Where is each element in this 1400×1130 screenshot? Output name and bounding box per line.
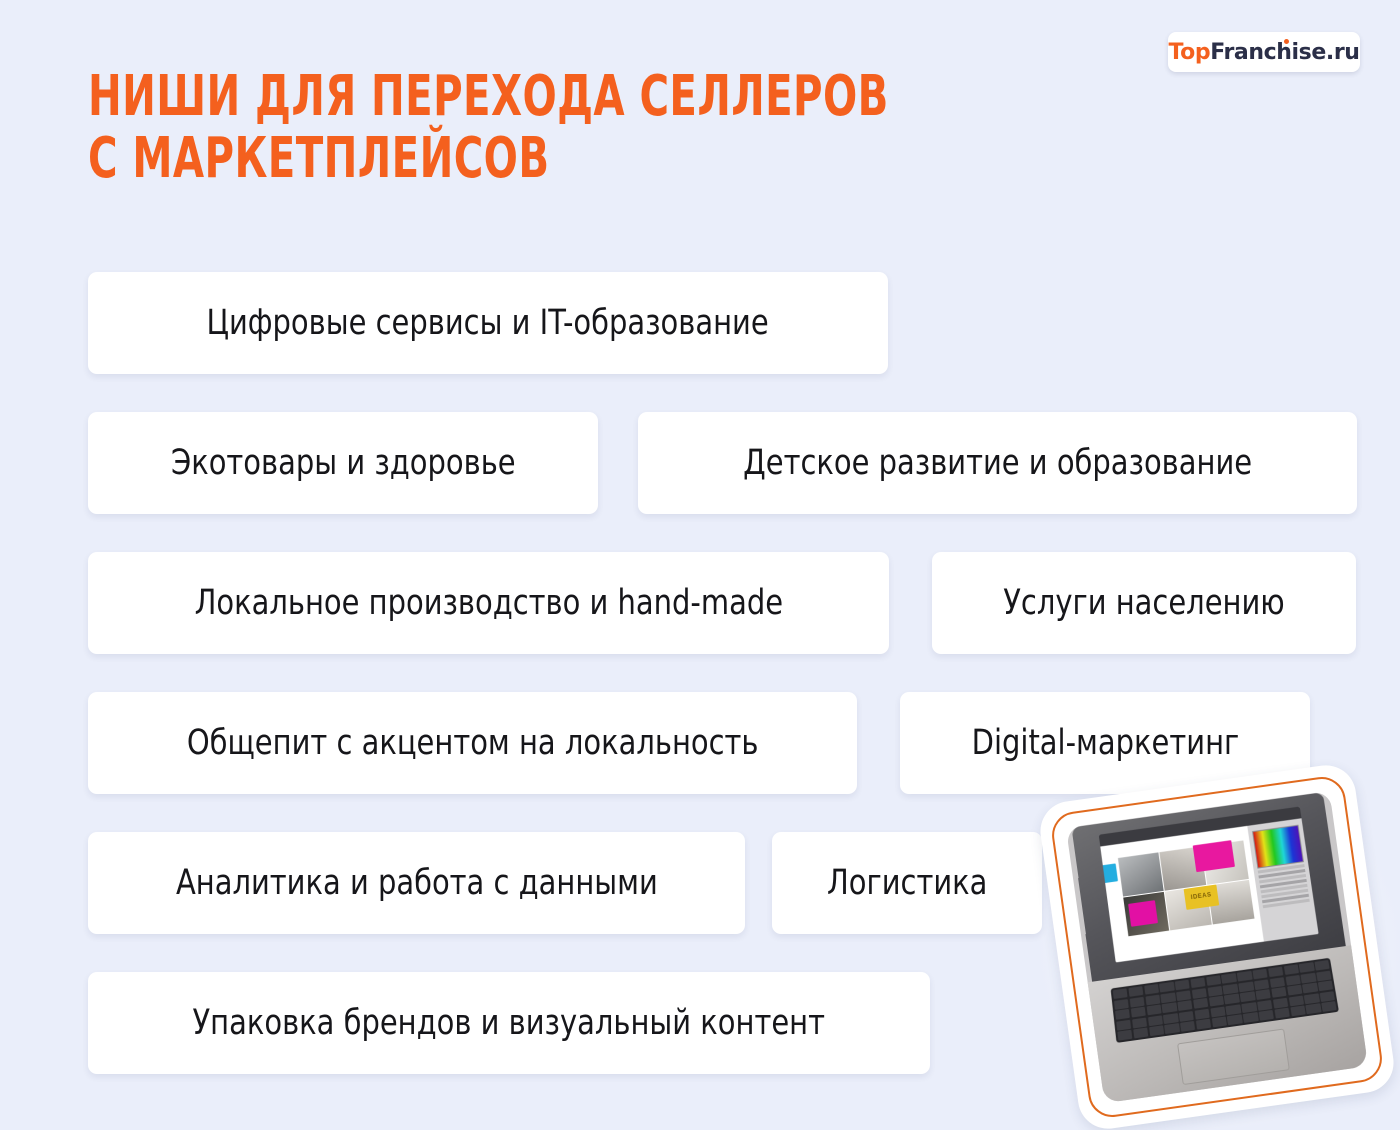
- keyboard-key: [1322, 1001, 1338, 1012]
- niche-card-label: Экотовары и здоровье: [171, 443, 516, 483]
- design-canvas: IDEAS: [1100, 826, 1264, 963]
- logo-top-word: Top: [1168, 40, 1210, 65]
- niche-card-label: Локальное производство и hand-made: [194, 583, 783, 623]
- keyboard-key: [1290, 1006, 1306, 1017]
- ideas-label: IDEAS: [1184, 884, 1219, 909]
- laptop-body: IDEAS: [1066, 791, 1368, 1103]
- niche-card-label: Логистика: [827, 863, 987, 903]
- cyan-swatch: [1099, 863, 1119, 885]
- laptop-trackpad: [1177, 1028, 1290, 1085]
- niche-card-analytics-data[interactable]: Аналитика и работа с данными: [88, 832, 745, 934]
- keyboard-key: [1180, 1021, 1195, 1032]
- infographic-page: TopFranchise.ru НИШИ ДЛЯ ПЕРЕХОДА СЕЛЛЕР…: [0, 0, 1400, 1130]
- niche-card-label: Услуги населению: [1003, 583, 1284, 623]
- color-gradient-picker: [1252, 825, 1304, 869]
- logo-text: TopFranchise.ru: [1168, 40, 1359, 65]
- niche-card-local-production[interactable]: Локальное производство и hand-made: [88, 552, 889, 654]
- keyboard-key: [1212, 1017, 1227, 1028]
- niche-card-brand-packaging[interactable]: Упаковка брендов и визуальный контент: [88, 972, 930, 1074]
- niche-card-catering-local[interactable]: Общепит с акцентом на локальность: [88, 692, 857, 794]
- keyboard-key: [1306, 1004, 1322, 1015]
- keyboard-key: [1149, 1026, 1164, 1037]
- keyboard-key: [1196, 1019, 1211, 1030]
- keyboard-key: [1133, 1028, 1148, 1039]
- laptop-sticker: IDEAS: [1037, 761, 1398, 1130]
- niche-card-label: Упаковка брендов и визуальный контент: [193, 1003, 825, 1043]
- niche-card-label: Детское развитие и образование: [743, 443, 1252, 483]
- niche-card-label: Общепит с акцентом на локальность: [187, 723, 759, 763]
- laptop-screen: IDEAS: [1099, 807, 1319, 963]
- magenta-swatch: [1129, 900, 1159, 927]
- keyboard-key: [1275, 1008, 1291, 1019]
- page-title: НИШИ ДЛЯ ПЕРЕХОДА СЕЛЛЕРОВ С МАРКЕТПЛЕЙС…: [88, 66, 889, 190]
- niche-card-child-development[interactable]: Детское развитие и образование: [638, 412, 1357, 514]
- keyboard-key: [1165, 1023, 1180, 1034]
- canvas-tile: [1118, 852, 1164, 896]
- keyboard-key: [1259, 1010, 1275, 1021]
- magenta-swatch: [1193, 840, 1235, 872]
- keyboard-key: [1243, 1012, 1259, 1023]
- niche-card-label: Аналитика и работа с данными: [176, 863, 658, 903]
- niche-card-label: Digital-маркетинг: [971, 723, 1239, 763]
- niche-card-logistics[interactable]: Логистика: [772, 832, 1042, 934]
- niche-card-label: Цифровые сервисы и IT-образование: [207, 303, 769, 343]
- keyboard-key: [1228, 1015, 1244, 1026]
- niche-card-digital-services[interactable]: Цифровые сервисы и IT-образование: [88, 272, 888, 374]
- niche-card-eco-goods[interactable]: Экотовары и здоровье: [88, 412, 598, 514]
- topfranchise-logo[interactable]: TopFranchise.ru: [1168, 32, 1360, 72]
- niche-card-services-population[interactable]: Услуги населению: [932, 552, 1356, 654]
- keyboard-key: [1118, 1030, 1133, 1041]
